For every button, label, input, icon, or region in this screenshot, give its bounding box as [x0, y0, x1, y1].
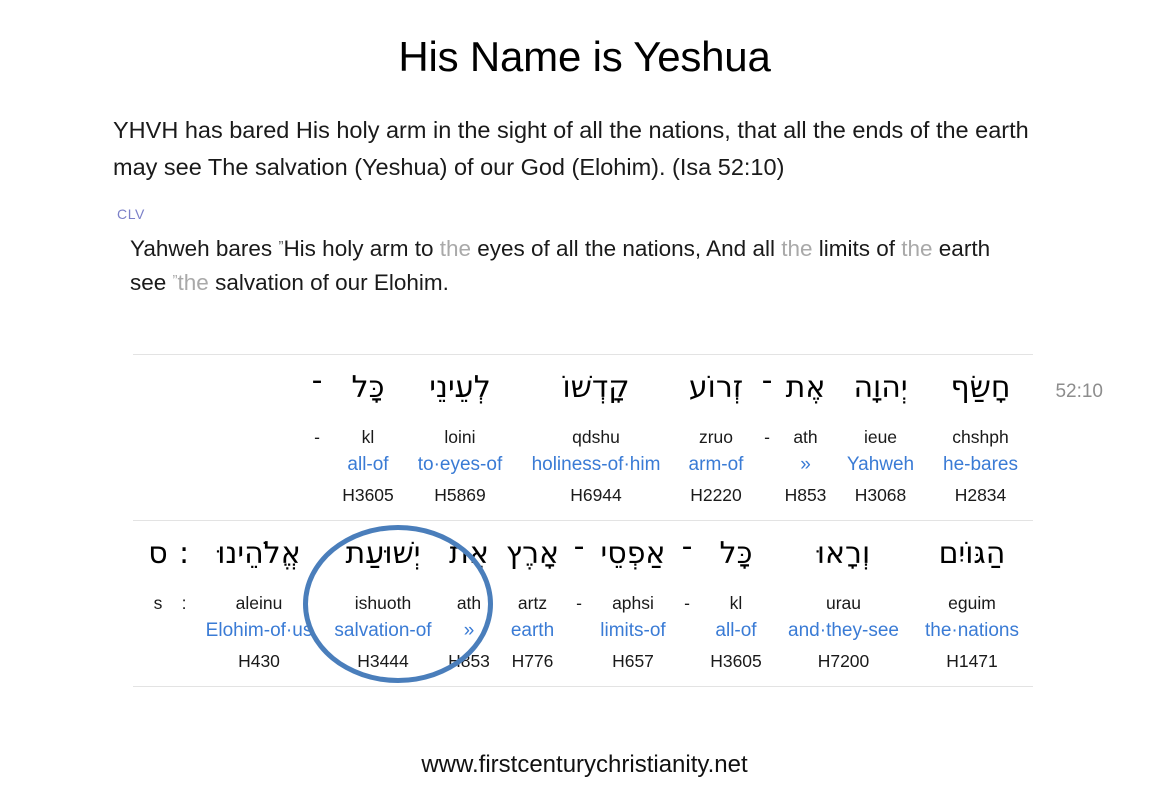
- interlinear-hebrew: אֱלֹהֵינוּ: [195, 537, 323, 571]
- interlinear-strongs: H3605: [332, 485, 404, 505]
- quote-word-run: Yahweh bares: [130, 236, 278, 261]
- quote-word-run: eyes of all the nations, And all: [477, 236, 781, 261]
- interlinear-transliteration: kl: [332, 427, 404, 447]
- interlinear-transliteration: ath: [778, 427, 833, 447]
- interlinear-strongs: H657: [588, 651, 678, 671]
- interlinear-hebrew: כָּל: [696, 537, 776, 571]
- interlinear-hebrew: ־: [570, 537, 588, 571]
- interlinear-strongs: H3605: [696, 651, 776, 671]
- verse-reference: 52:10: [1055, 381, 1103, 403]
- interlinear-hebrew: כָּל: [332, 371, 404, 405]
- interlinear-transliteration: ieue: [833, 427, 928, 447]
- interlinear-transliteration: zruo: [676, 427, 756, 447]
- interlinear-gloss: all-of: [696, 620, 776, 642]
- strongs-line-1: H2834H3068H853H2220H6944H5869H3605: [133, 485, 1033, 505]
- interlinear-gloss: the·nations: [911, 620, 1033, 642]
- interlinear-strongs: H853: [443, 651, 495, 671]
- slide-canvas: His Name is Yeshua YHVH has bared His ho…: [0, 0, 1169, 807]
- interlinear-hebrew: ־: [678, 537, 696, 571]
- interlinear-transliteration: aleinu: [195, 593, 323, 613]
- interlinear-transliteration: kl: [696, 593, 776, 613]
- interlinear-hebrew: זְרוֹע: [676, 371, 756, 405]
- quote-word-run: salvation of our Elohim.: [215, 270, 449, 295]
- interlinear-hebrew: הַגּוֹיִם: [911, 537, 1033, 571]
- interlinear-hebrew: ־: [302, 371, 332, 405]
- interlinear-transliteration: ishuoth: [323, 593, 443, 613]
- interlinear-transliteration: loini: [404, 427, 516, 447]
- interlinear-hebrew: אָרֶץ: [495, 537, 570, 571]
- interlinear-transliteration: :: [173, 593, 195, 613]
- interlinear-transliteration: ath: [443, 593, 495, 613]
- translit-line-2: eguimuraukl-aphsi-artzathishuothaleinu:s: [133, 593, 1033, 613]
- clv-translation-label: CLV: [117, 206, 145, 222]
- interlinear-strongs: H430: [195, 651, 323, 671]
- interlinear-strongs: H7200: [776, 651, 911, 671]
- hebrew-line-2: הַגּוֹיִםוְרָאוּכָּל־אַפְסֵי־אָרֶץאֵתיְש…: [133, 537, 1033, 571]
- interlinear-hebrew: ס: [143, 537, 173, 571]
- interlinear-transliteration: eguim: [911, 593, 1033, 613]
- interlinear-hebrew: יְשׁוּעַת: [323, 537, 443, 571]
- interlinear-strongs: H2220: [676, 485, 756, 505]
- interlinear-strongs: H776: [495, 651, 570, 671]
- interlinear-hebrew: אֶת: [778, 371, 833, 405]
- interlinear-gloss: Yahweh: [833, 454, 928, 476]
- interlinear-strongs: H5869: [404, 485, 516, 505]
- strongs-line-2: H1471H7200H3605H657H776H853H3444H430: [133, 651, 1033, 671]
- quote-supplied-word: the: [901, 236, 939, 261]
- interlinear-gloss: arm-of: [676, 454, 756, 476]
- interlinear-hebrew: :: [173, 537, 195, 571]
- interlinear-hebrew: יְהוָה: [833, 371, 928, 405]
- interlinear-transliteration: -: [302, 427, 332, 447]
- gloss-line-2: the·nationsand·they-seeall-oflimits-ofea…: [133, 620, 1033, 642]
- interlinear-strongs: H3444: [323, 651, 443, 671]
- interlinear-gloss: Elohim-of·us: [195, 620, 323, 642]
- interlinear-gloss: to·eyes-of: [404, 454, 516, 476]
- interlinear-transliteration: -: [570, 593, 588, 613]
- interlinear-gloss: he-bares: [928, 454, 1033, 476]
- interlinear-hebrew: ־: [756, 371, 778, 405]
- translit-line-1: chshphieueath-zruoqdshuloinikl-: [133, 427, 1033, 447]
- interlinear-hebrew: וְרָאוּ: [776, 537, 911, 571]
- footer-url: www.firstcenturychristianity.net: [0, 751, 1169, 779]
- interlinear-hebrew: חָשַׂף: [928, 371, 1033, 405]
- quote-word-run: limits of: [819, 236, 902, 261]
- interlinear-gloss: earth: [495, 620, 570, 642]
- interlinear-strongs: H853: [778, 485, 833, 505]
- quote-supplied-word: the: [440, 236, 478, 261]
- page-title: His Name is Yeshua: [0, 33, 1169, 81]
- interlinear-transliteration: -: [678, 593, 696, 613]
- interlinear-strongs: H1471: [911, 651, 1033, 671]
- interlinear-transliteration: chshph: [928, 427, 1033, 447]
- interlinear-hebrew: אַפְסֵי: [588, 537, 678, 571]
- divider-bottom: [133, 686, 1033, 687]
- interlinear-transliteration: urau: [776, 593, 911, 613]
- quote-supplied-word: the: [781, 236, 819, 261]
- interlinear-hebrew: לְעֵינֵי: [404, 371, 516, 405]
- interlinear-hebrew: אֵת: [443, 537, 495, 571]
- clv-quote-text: Yahweh bares ”His holy arm to the eyes o…: [130, 231, 1030, 299]
- interlinear-gloss: all-of: [332, 454, 404, 476]
- interlinear-table: 52:10 חָשַׂףיְהוָהאֶת־זְרוֹעקָדְשׁוֹלְעֵ…: [133, 354, 1033, 687]
- quote-supplied-word: the: [178, 270, 216, 295]
- interlinear-strongs: H6944: [516, 485, 676, 505]
- interlinear-transliteration: -: [756, 427, 778, 447]
- interlinear-gloss: »: [443, 620, 495, 642]
- interlinear-hebrew: קָדְשׁוֹ: [516, 371, 676, 405]
- interlinear-gloss: salvation-of: [323, 620, 443, 642]
- interlinear-gloss: »: [778, 454, 833, 476]
- intro-paragraph: YHVH has bared His holy arm in the sight…: [113, 112, 1058, 186]
- interlinear-gloss: limits-of: [588, 620, 678, 642]
- gloss-line-1: he-baresYahweh»arm-ofholiness-of·himto·e…: [133, 454, 1033, 476]
- interlinear-gloss: holiness-of·him: [516, 454, 676, 476]
- interlinear-transliteration: s: [143, 593, 173, 613]
- interlinear-row-1: 52:10 חָשַׂףיְהוָהאֶת־זְרוֹעקָדְשׁוֹלְעֵ…: [133, 355, 1033, 520]
- interlinear-transliteration: aphsi: [588, 593, 678, 613]
- interlinear-strongs: H2834: [928, 485, 1033, 505]
- interlinear-row-2: הַגּוֹיִםוְרָאוּכָּל־אַפְסֵי־אָרֶץאֵתיְש…: [133, 521, 1033, 686]
- interlinear-strongs: H3068: [833, 485, 928, 505]
- interlinear-transliteration: artz: [495, 593, 570, 613]
- quote-word-run: His holy arm to: [283, 236, 439, 261]
- interlinear-gloss: and·they-see: [776, 620, 911, 642]
- hebrew-line-1: חָשַׂףיְהוָהאֶת־זְרוֹעקָדְשׁוֹלְעֵינֵיכָ…: [133, 371, 1033, 405]
- interlinear-transliteration: qdshu: [516, 427, 676, 447]
